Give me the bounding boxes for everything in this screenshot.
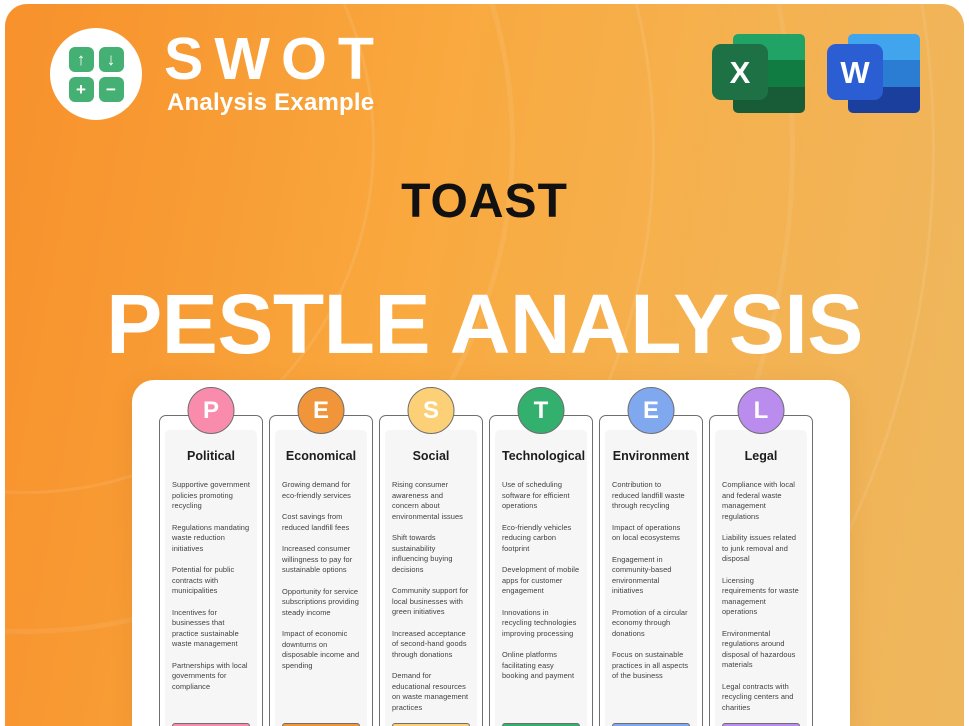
bullet-item: Community support for local businesses w… [392,586,470,618]
bullet-item: Eco-friendly vehicles reducing carbon fo… [502,523,580,555]
office-icons-group: X W [712,30,920,113]
column-panel: PoliticalSupportive government policies … [165,430,257,726]
pestle-analysis-slide: ↑ ↓ + − SWOT Analysis Example X [0,0,969,726]
pestle-column-legal[interactable]: LLegalCompliance with local and federal … [709,415,813,726]
brand-title: TOAST [5,174,964,229]
bullet-item: Partnerships with local governments for … [172,661,250,693]
bullet-item: Compliance with local and federal waste … [722,480,800,522]
bullet-item: Impact of economic downturns on disposab… [282,629,360,671]
slide-canvas: ↑ ↓ + − SWOT Analysis Example X [5,4,964,726]
word-icon[interactable]: W [827,30,920,113]
column-title: Economical [282,449,360,463]
bullet-item: Focus on sustainable practices in all as… [612,650,690,682]
logo-circle: ↑ ↓ + − [50,28,142,120]
pestle-column-environment[interactable]: EEnvironmentContribution to reduced land… [599,415,703,726]
pestle-column-social[interactable]: SSocialRising consumer awareness and con… [379,415,483,726]
bullet-item: Liability issues related to junk removal… [722,533,800,565]
word-icon-letter: W [827,44,883,100]
column-bullet-list: Use of scheduling software for efficient… [502,480,580,682]
pestle-columns: PPoliticalSupportive government policies… [159,415,823,726]
swot-logo: ↑ ↓ + − SWOT Analysis Example [50,28,385,120]
excel-icon-letter: X [712,44,768,100]
column-bullet-list: Rising consumer awareness and concern ab… [392,480,470,713]
bullet-item: Promotion of a circular economy through … [612,608,690,640]
column-bullet-list: Growing demand for eco-friendly services… [282,480,360,671]
plus-icon: + [69,77,94,102]
bullet-item: Development of mobile apps for customer … [502,565,580,597]
bullet-item: Engagement in community-based environmen… [612,555,690,597]
bullet-item: Cost savings from reduced landfill fees [282,512,360,533]
column-title: Social [392,449,470,463]
bullet-item: Growing demand for eco-friendly services [282,480,360,501]
column-panel: EconomicalGrowing demand for eco-friendl… [275,430,367,726]
bullet-item: Use of scheduling software for efficient… [502,480,580,512]
column-title: Political [172,449,250,463]
logo-icon-grid: ↑ ↓ + − [69,47,124,102]
logo-brand-text: SWOT [164,31,385,89]
arrow-up-icon: ↑ [69,47,94,72]
pestle-column-technological[interactable]: TTechnologicalUse of scheduling software… [489,415,593,726]
column-title: Legal [722,449,800,463]
pestle-column-economical[interactable]: EEconomicalGrowing demand for eco-friend… [269,415,373,726]
column-bullet-list: Contribution to reduced landfill waste t… [612,480,690,682]
bullet-item: Opportunity for service subscriptions pr… [282,587,360,619]
column-panel: SocialRising consumer awareness and conc… [385,430,477,726]
column-title: Environment [612,449,690,463]
bullet-item: Impact of operations on local ecosystems [612,523,690,544]
bullet-item: Supportive government policies promoting… [172,480,250,512]
column-title: Technological [502,449,580,463]
bullet-item: Increased consumer willingness to pay fo… [282,544,360,576]
logo-subtitle-text: Analysis Example [167,89,385,117]
column-panel: TechnologicalUse of scheduling software … [495,430,587,726]
column-panel: EnvironmentContribution to reduced landf… [605,430,697,726]
column-badge-environment: E [628,387,675,434]
bullet-item: Potential for public contracts with muni… [172,565,250,597]
column-badge-technological: T [518,387,565,434]
column-panel: LegalCompliance with local and federal w… [715,430,807,726]
bullet-item: Shift towards sustainability influencing… [392,533,470,575]
bullet-item: Licensing requirements for waste managem… [722,576,800,618]
bullet-item: Demand for educational resources on wast… [392,671,470,713]
bullet-item: Innovations in recycling technologies im… [502,608,580,640]
minus-icon: − [99,77,124,102]
bullet-item: Rising consumer awareness and concern ab… [392,480,470,522]
bullet-item: Increased acceptance of second-hand good… [392,629,470,661]
bullet-item: Online platforms facilitating easy booki… [502,650,580,682]
arrow-down-icon: ↓ [99,47,124,72]
column-badge-social: S [408,387,455,434]
page-title: PESTLE ANALYSIS [5,276,964,373]
column-badge-economical: E [298,387,345,434]
excel-icon[interactable]: X [712,30,805,113]
bullet-item: Environmental regulations around disposa… [722,629,800,671]
column-bullet-list: Compliance with local and federal waste … [722,480,800,713]
bullet-item: Incentives for businesses that practice … [172,608,250,650]
column-badge-political: P [188,387,235,434]
bullet-item: Legal contracts with recycling centers a… [722,682,800,714]
column-badge-legal: L [738,387,785,434]
column-bullet-list: Supportive government policies promoting… [172,480,250,692]
bullet-item: Regulations mandating waste reduction in… [172,523,250,555]
pestle-board: PPoliticalSupportive government policies… [132,380,850,726]
bullet-item: Contribution to reduced landfill waste t… [612,480,690,512]
logo-wordmark: SWOT Analysis Example [164,31,385,118]
pestle-column-political[interactable]: PPoliticalSupportive government policies… [159,415,263,726]
